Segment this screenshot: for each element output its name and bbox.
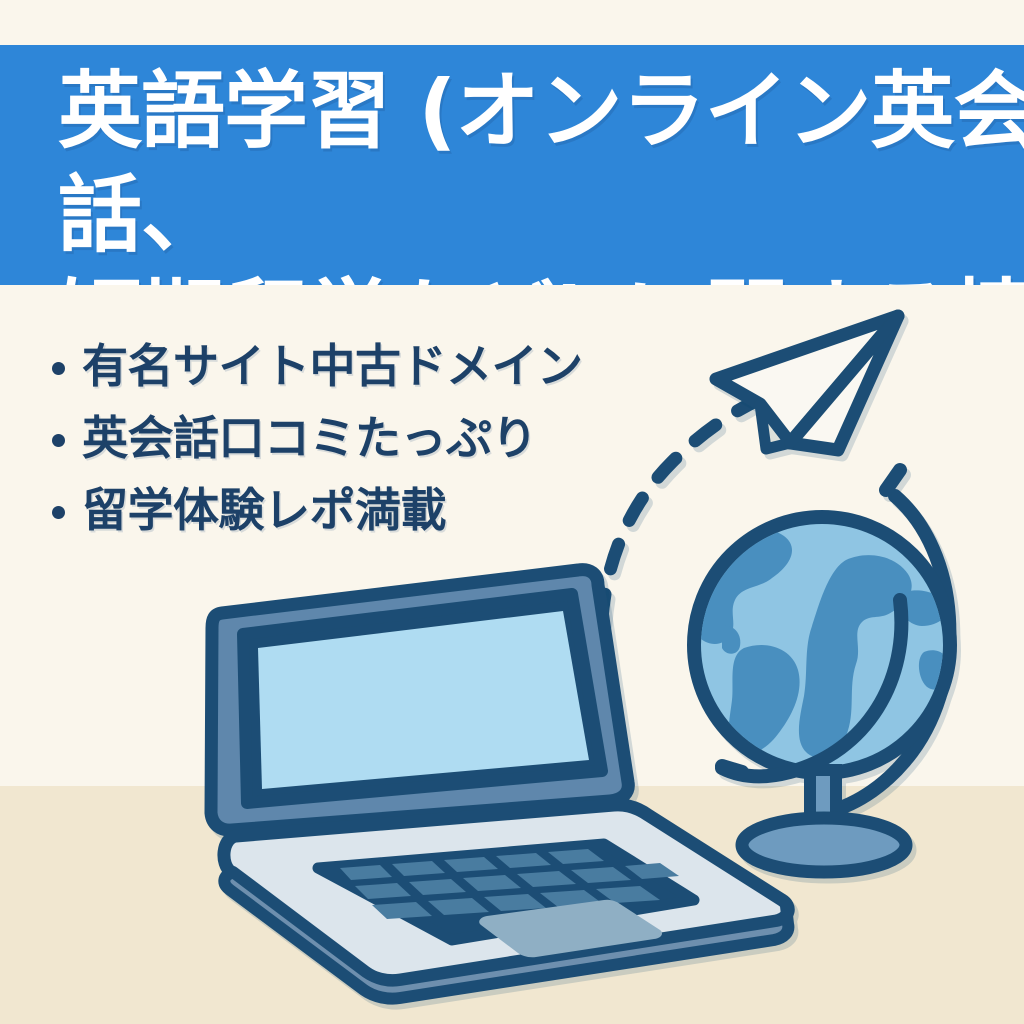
feature-label-reviews: 英会話口コミたっぷり bbox=[82, 412, 537, 464]
background-floor bbox=[0, 786, 1024, 1024]
poster-canvas: 英語学習 (オンライン英会話、 短期留学など) に関する情報サイ 有名サイト中古… bbox=[0, 0, 1024, 1024]
list-item: 留学体験レポ満載 bbox=[52, 474, 672, 546]
list-item: 有名サイト中古ドメイン bbox=[52, 330, 672, 402]
header-banner: 英語学習 (オンライン英会話、 短期留学など) に関する情報サイ bbox=[0, 45, 1024, 285]
list-item: 英会話口コミたっぷり bbox=[52, 402, 672, 474]
bullet-dot-icon bbox=[52, 434, 65, 447]
feature-label-domain: 有名サイト中古ドメイン bbox=[82, 340, 583, 392]
page-title: 英語学習 (オンライン英会話、 短期留学など) に関する情報サイ bbox=[58, 59, 1024, 285]
feature-label-reports: 留学体験レポ満載 bbox=[82, 484, 446, 536]
bullet-dot-icon bbox=[52, 362, 65, 375]
bullet-dot-icon bbox=[52, 506, 65, 519]
feature-list: 有名サイト中古ドメイン 英会話口コミたっぷり 留学体験レポ満載 bbox=[52, 330, 672, 546]
